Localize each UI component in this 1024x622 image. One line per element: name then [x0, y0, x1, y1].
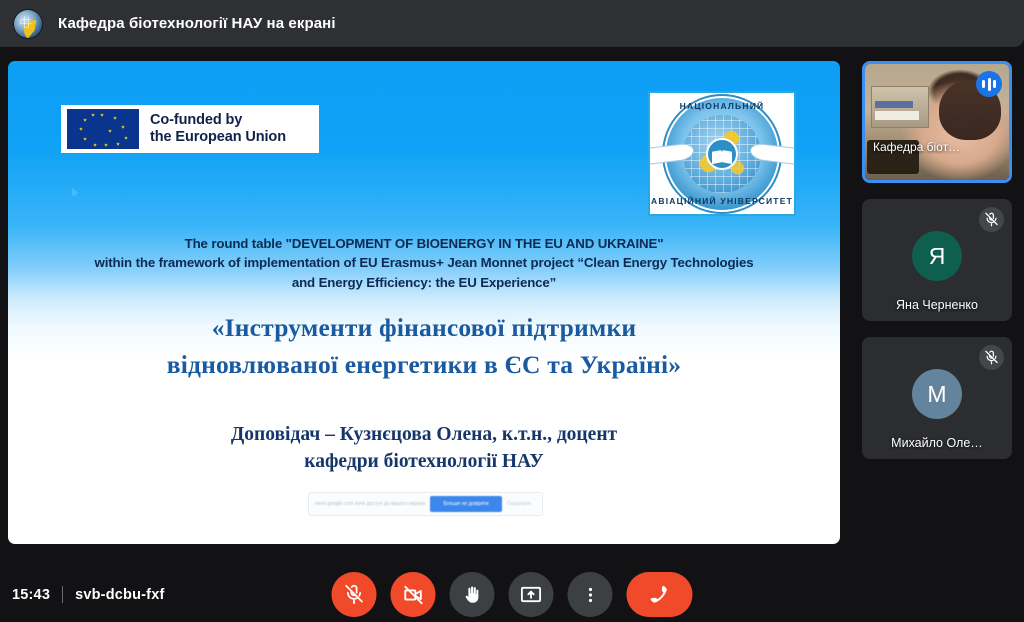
eu-logo-text: Co-funded by the European Union	[150, 112, 286, 146]
permission-bar-secondary-button[interactable]: Скасувати	[502, 496, 536, 512]
audio-level-icon	[976, 71, 1002, 97]
slide-cursor-icon	[72, 188, 79, 197]
participant-tile-active-speaker[interactable]: Кафедра біот…	[862, 61, 1012, 183]
slide-main-title: «Інструменти фінансової підтримки віднов…	[68, 309, 780, 384]
permission-bar-primary-button[interactable]: Більше не довіряти	[430, 496, 502, 512]
more-options-button[interactable]	[568, 572, 613, 617]
permission-bar-text: meet.google.com хоче доступ до вашого ек…	[315, 501, 430, 507]
camera-off-button[interactable]	[391, 572, 436, 617]
participant-name-label: Михайло Оле…	[862, 436, 1012, 450]
participant-name-label: Яна Черненко	[862, 298, 1012, 312]
slide-subtitle: The round table "DEVELOPMENT OF BIOENERG…	[64, 234, 784, 292]
nau-logo-arc-bottom: АВІАЦІЙНИЙ УНІВЕРСИТЕТ	[650, 196, 794, 206]
participant-tile-yana[interactable]: Я Яна Черненко	[862, 199, 1012, 321]
participant-name-label: Кафедра біот…	[865, 140, 1009, 154]
presentation-banner-title: Кафедра біотехнології НАУ на екрані	[58, 15, 336, 32]
slide-title-line-2: відновлюваної енергетики в ЄС та Україні…	[68, 346, 780, 383]
shared-screen-slide[interactable]: Co-funded by the European Union НАЦІОНАЛ…	[8, 61, 840, 544]
slide-subtitle-line-2: within the framework of implementation o…	[64, 253, 784, 272]
raise-hand-button[interactable]	[450, 572, 495, 617]
video-person-glasses	[949, 114, 993, 125]
eu-flag-icon	[67, 109, 139, 149]
slide-speaker-line-1: Доповідач – Кузнєцова Олена, к.т.н., доц…	[68, 421, 780, 448]
video-background-shelf	[871, 86, 929, 128]
meeting-clock: 15:43	[12, 587, 50, 603]
eu-logo-line-2: the European Union	[150, 129, 286, 146]
slide-speaker-line-2: кафедри біотехнології НАУ	[68, 448, 780, 475]
meeting-stage: Co-funded by the European Union НАЦІОНАЛ…	[0, 47, 1024, 575]
participant-avatar: М	[912, 369, 962, 419]
nau-university-logo: НАЦІОНАЛЬНИЙ АВІАЦІЙНИЙ УНІВЕРСИТЕТ	[648, 91, 796, 216]
mic-off-icon	[979, 345, 1004, 370]
present-screen-button[interactable]	[509, 572, 554, 617]
slide-subtitle-line-3: and Energy Efficiency: the EU Experience…	[64, 273, 784, 292]
participant-avatar: Я	[912, 231, 962, 281]
nau-logo-arc-top: НАЦІОНАЛЬНИЙ	[650, 101, 794, 111]
presentation-banner: Кафедра біотехнології НАУ на екрані	[0, 0, 1024, 47]
meeting-info-divider	[62, 586, 63, 603]
slide-title-line-1: «Інструменти фінансової підтримки	[68, 309, 780, 346]
meeting-bottom-bar: 15:43 svb-dcbu-fxf	[0, 567, 1024, 622]
end-call-button[interactable]	[627, 572, 693, 617]
slide-speaker-credit: Доповідач – Кузнєцова Олена, к.т.н., доц…	[68, 421, 780, 476]
screen-share-permission-bar[interactable]: meet.google.com хоче доступ до вашого ек…	[308, 492, 543, 516]
meeting-code[interactable]: svb-dcbu-fxf	[75, 587, 164, 603]
presenter-avatar-icon	[14, 10, 42, 38]
microphone-off-button[interactable]	[332, 572, 377, 617]
eu-cofunded-logo: Co-funded by the European Union	[61, 105, 319, 153]
participant-tile-mykhailo[interactable]: М Михайло Оле…	[862, 337, 1012, 459]
eu-logo-line-1: Co-funded by	[150, 112, 286, 129]
nau-book-icon	[712, 150, 732, 164]
participant-tile-list: Кафедра біот… Я Яна Черненко	[862, 61, 1012, 475]
meeting-info: 15:43 svb-dcbu-fxf	[12, 586, 165, 603]
meeting-window: Кафедра біотехнології НАУ на екрані	[0, 0, 1024, 622]
slide-subtitle-line-1: The round table "DEVELOPMENT OF BIOENERG…	[64, 234, 784, 253]
mic-off-icon	[979, 207, 1004, 232]
meeting-controls	[332, 572, 693, 617]
